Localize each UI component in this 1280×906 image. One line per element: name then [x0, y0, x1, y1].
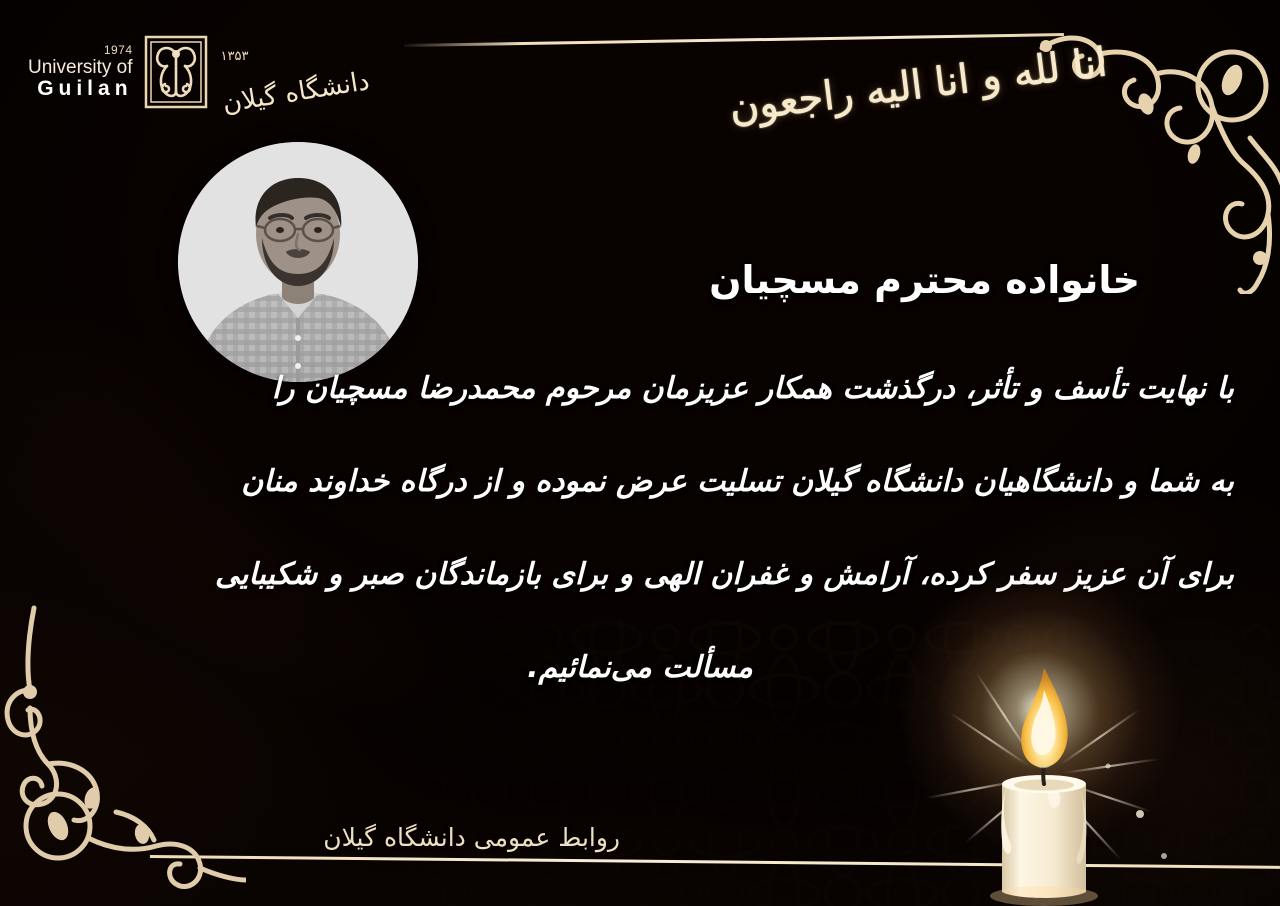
logo-persian-text: ۱۳۵۳ دانشگاه گیلان [221, 49, 369, 96]
logo-year-gregorian: 1974 [28, 44, 133, 57]
logo-guilan-word: Guilan [28, 78, 133, 100]
deceased-portrait-photo [178, 142, 418, 382]
memorial-candle [894, 606, 1194, 906]
university-logo: 1974 University of Guilan [28, 34, 369, 110]
footer-public-relations: روابط عمومی دانشگاه گیلان [323, 823, 620, 852]
condolence-poster: 1974 University of Guilan [0, 0, 1280, 906]
message-line-1: با نهایت تأسف و تأثر، درگذشت همکار عزیزم… [46, 372, 1234, 405]
logo-university-word: University of [28, 58, 133, 78]
message-line-2: به شما و دانشگاهیان دانشگاه گیلان تسلیت … [46, 465, 1234, 498]
logo-year-hijri: ۱۳۵۳ [221, 49, 249, 64]
page-title: خانواده محترم مسچیان [709, 258, 1140, 302]
logo-english-text: 1974 University of Guilan [28, 44, 133, 100]
guilan-emblem-icon [143, 34, 209, 110]
